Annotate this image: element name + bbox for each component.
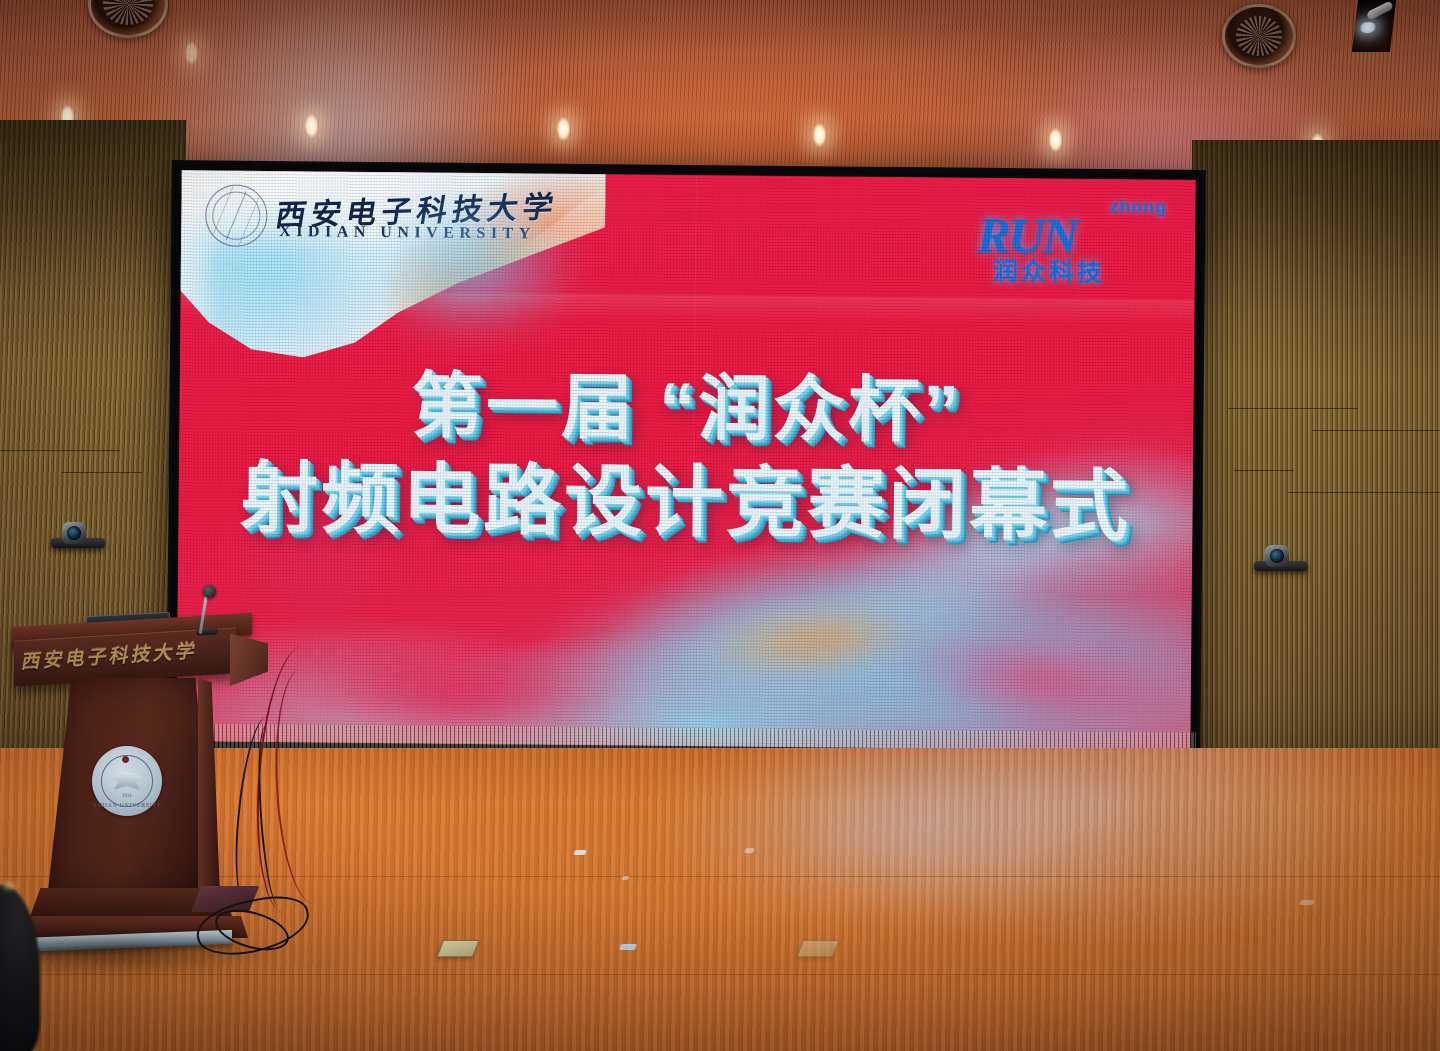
led-screen-display: 西安电子科技大学 XIDIAN UNIVERSITY RUN zhong 润众科… (176, 170, 1195, 751)
gooseneck-microphone (203, 585, 216, 598)
wall-seam (1228, 408, 1358, 409)
sponsor-superscript: zhong (1110, 197, 1168, 218)
ceiling-downlight (1048, 127, 1063, 153)
ribbon-shape (872, 613, 1195, 744)
camera-lens-icon (1270, 549, 1284, 563)
ceiling-downlight (304, 113, 319, 139)
camera-lens-icon (67, 526, 81, 540)
silk-fold (208, 242, 381, 358)
wall-seam (1234, 470, 1294, 471)
banner-title-line2: 射频电路设计竞赛闭幕式 (178, 456, 1193, 548)
podium-column-edge (198, 678, 220, 896)
ptz-camera-left (51, 522, 105, 552)
ceiling-downlight (812, 122, 827, 148)
xidian-crest-icon (205, 184, 268, 247)
crest-red-dot (122, 756, 129, 763)
banner-title: 第一届 “润众杯” 射频电路设计竞赛闭幕式 (178, 366, 1194, 549)
podium-right-side (230, 630, 268, 686)
wall-seam (1312, 430, 1440, 431)
spotlight-lamp-icon (1358, 22, 1377, 33)
crest-founded-year: 1931 (92, 794, 162, 799)
xidian-university-crest-icon: 1931 XIDIAN UNIVERSITY (92, 746, 162, 816)
ceiling-vent-fan (1222, 4, 1296, 68)
floor-debris (1299, 900, 1315, 905)
banner-title-line1: 第一届 “润众杯” (179, 366, 1194, 452)
wall-seam (0, 450, 120, 451)
stage-scene: 西安电子科技大学 XIDIAN UNIVERSITY RUN zhong 润众科… (0, 0, 1440, 1051)
university-name-en: XIDIAN UNIVERSITY (279, 223, 536, 243)
ceiling-spotlight-slot (1352, 0, 1396, 52)
floor-outlet-plate (437, 940, 480, 957)
led-screen-bezel: 西安电子科技大学 XIDIAN UNIVERSITY RUN zhong 润众科… (169, 163, 1203, 758)
floor-debris (619, 944, 637, 950)
wall-seam (1288, 492, 1440, 493)
floor-outlet-plate (797, 940, 840, 957)
ptz-camera-right (1254, 545, 1308, 575)
wall-seam (62, 472, 142, 473)
spotlight-bar (1366, 0, 1394, 20)
sponsor-name-cn: 润众科技 (993, 252, 1105, 289)
floor-seam (0, 974, 1440, 975)
floor-light-reflection (640, 748, 1160, 928)
sponsor-logo: RUN zhong 润众科技 (977, 194, 1174, 280)
crest-english-ring: XIDIAN UNIVERSITY (92, 803, 162, 809)
ceiling-downlight (184, 40, 199, 66)
ceiling-downlight (556, 116, 571, 142)
foreground-highlight (0, 880, 18, 892)
floor-debris (573, 850, 587, 855)
